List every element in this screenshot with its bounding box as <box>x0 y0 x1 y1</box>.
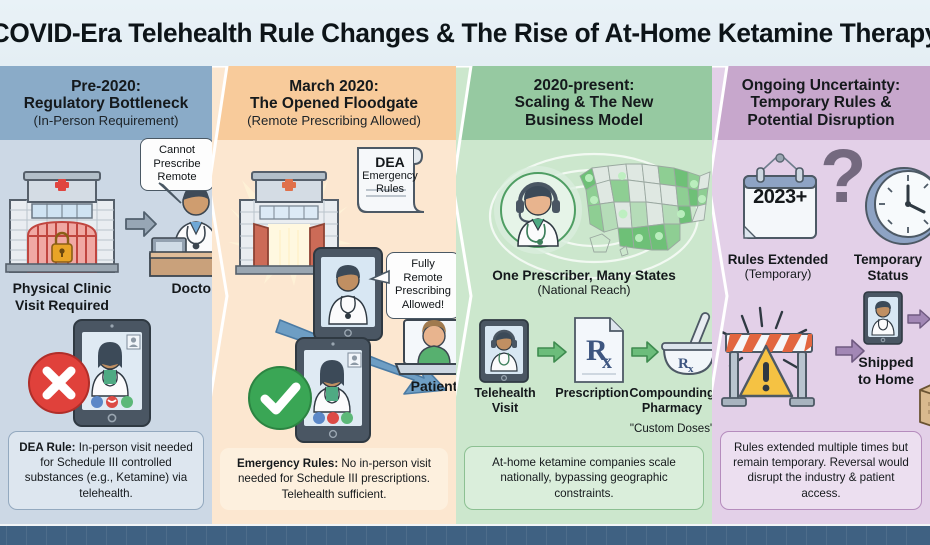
column-march-2020-heading-line1: March 2020: <box>289 78 379 96</box>
page-title: COVID-Era Telehealth Rule Changes & The … <box>0 18 930 49</box>
scaling-note: At-home ketamine companies scale nationa… <box>464 446 704 510</box>
scaling-note-text: At-home ketamine companies scale nationa… <box>492 456 676 500</box>
fully-remote-prescribing-bubble: Fully Remote Prescribing Allowed! <box>386 252 456 319</box>
scroll-line1: Emergency <box>356 170 424 183</box>
bottom-strip <box>0 524 930 545</box>
flow-arrow-1-icon <box>536 340 568 364</box>
scroll-title: DEA <box>356 154 424 170</box>
patient-label: Patient <box>392 378 456 395</box>
tablet-doctor-icon <box>312 246 384 342</box>
roadblock-warning-icon <box>718 304 836 414</box>
national-reach-title: One Prescriber, Many States <box>456 268 712 283</box>
column-march-2020-body: DEA Emergency Rules <box>212 140 456 524</box>
rules-extended-label: Rules Extended (Temporary) <box>720 252 836 281</box>
compounding-pharmacy-label: CompoundingPharmacy <box>628 386 712 416</box>
timeline-columns: Pre-2020: Regulatory Bottleneck (In-Pers… <box>0 66 930 524</box>
column-pre-2020-heading-line1: Pre-2020: <box>71 78 141 96</box>
uncertainty-note-text: Rules extended multiple times but remain… <box>733 441 909 500</box>
clinic-building-locked-icon <box>2 164 122 284</box>
doctor-label: Doctor <box>144 280 212 297</box>
column-2020-present-body: One Prescriber, Many States (National Re… <box>456 140 712 524</box>
dea-rule-note-bold: DEA Rule: <box>19 441 75 454</box>
dea-rule-note: DEA Rule: In-person visit needed for Sch… <box>8 431 204 510</box>
national-reach-sub: (National Reach) <box>456 283 712 297</box>
column-ongoing-heading-line1: Ongoing Uncertainty: <box>742 77 900 95</box>
us-map-states-icon <box>576 154 712 262</box>
flow-arrow-purple-2-icon <box>906 308 930 330</box>
scroll-line2: Rules <box>356 183 424 196</box>
prescription-rx-document-icon: R x <box>572 316 626 384</box>
column-2020-present: 2020-present: Scaling & The New Business… <box>456 66 712 524</box>
tablet-telehealth-icon <box>478 318 530 384</box>
column-ongoing-heading-line2: Temporary Rules & <box>751 94 892 112</box>
prescription-label: Prescription <box>544 386 640 401</box>
column-pre-2020-header: Pre-2020: Regulatory Bottleneck (In-Pers… <box>0 66 212 140</box>
column-march-2020-heading-sub: (Remote Prescribing Allowed) <box>247 113 421 128</box>
scroll-text: DEA Emergency Rules <box>356 154 424 196</box>
column-ongoing-heading-line3: Potential Disruption <box>747 112 894 130</box>
clinic-label: Physical Clinic Visit Required <box>0 280 128 313</box>
svg-text:x: x <box>688 363 694 375</box>
uncertainty-note: Rules extended multiple times but remain… <box>720 431 922 510</box>
column-pre-2020: Pre-2020: Regulatory Bottleneck (In-Pers… <box>0 66 212 524</box>
temporary-status-label: Temporary Status <box>838 252 930 284</box>
mortar-pestle-rx-icon: R x <box>660 310 712 384</box>
telehealth-visit-label: TelehealthVisit <box>464 386 546 416</box>
column-pre-2020-body: Physical Clinic Visit Required <box>0 140 212 524</box>
svg-text:x: x <box>602 351 612 373</box>
calendar-year-label: 2023+ <box>732 186 828 209</box>
column-pre-2020-heading-sub: (In-Person Requirement) <box>33 113 178 128</box>
shipped-to-home-label: Shippedto Home <box>844 354 928 387</box>
column-march-2020-header: March 2020: The Opened Floodgate (Remote… <box>212 66 456 140</box>
emergency-rules-note-bold: Emergency Rules: <box>237 457 338 470</box>
column-pre-2020-heading-line2: Regulatory Bottleneck <box>24 95 189 113</box>
flow-arrow-2-icon <box>630 340 660 364</box>
cannot-prescribe-remote-bubble: Cannot Prescribe Remote <box>140 138 212 191</box>
clock-hourglass-icon <box>860 162 930 254</box>
green-check-icon <box>244 362 316 434</box>
column-ongoing-uncertainty-header: Ongoing Uncertainty: Temporary Rules & P… <box>712 66 930 140</box>
national-reach-label: One Prescriber, Many States (National Re… <box>456 268 712 297</box>
prescriber-headset-avatar-icon <box>490 162 586 258</box>
custom-doses-label: "Custom Doses" <box>628 422 712 436</box>
tablet-doctor-small-icon <box>862 290 904 346</box>
column-2020-present-header: 2020-present: Scaling & The New Business… <box>456 66 712 140</box>
column-2020-present-heading-line3: Business Model <box>525 112 643 130</box>
column-march-2020-heading-line2: The Opened Floodgate <box>250 95 418 113</box>
page-title-bar: COVID-Era Telehealth Rule Changes & The … <box>0 0 930 66</box>
emergency-rules-note: Emergency Rules: No in-person visit need… <box>220 448 448 510</box>
column-2020-present-heading-line1: 2020-present: <box>534 77 635 95</box>
red-x-icon <box>24 348 94 418</box>
column-march-2020: March 2020: The Opened Floodgate (Remote… <box>212 66 456 524</box>
column-ongoing-uncertainty-body: 2023+ ? <box>712 140 930 524</box>
column-2020-present-heading-line2: Scaling & The New <box>515 94 654 112</box>
column-ongoing-uncertainty: Ongoing Uncertainty: Temporary Rules & P… <box>712 66 930 524</box>
